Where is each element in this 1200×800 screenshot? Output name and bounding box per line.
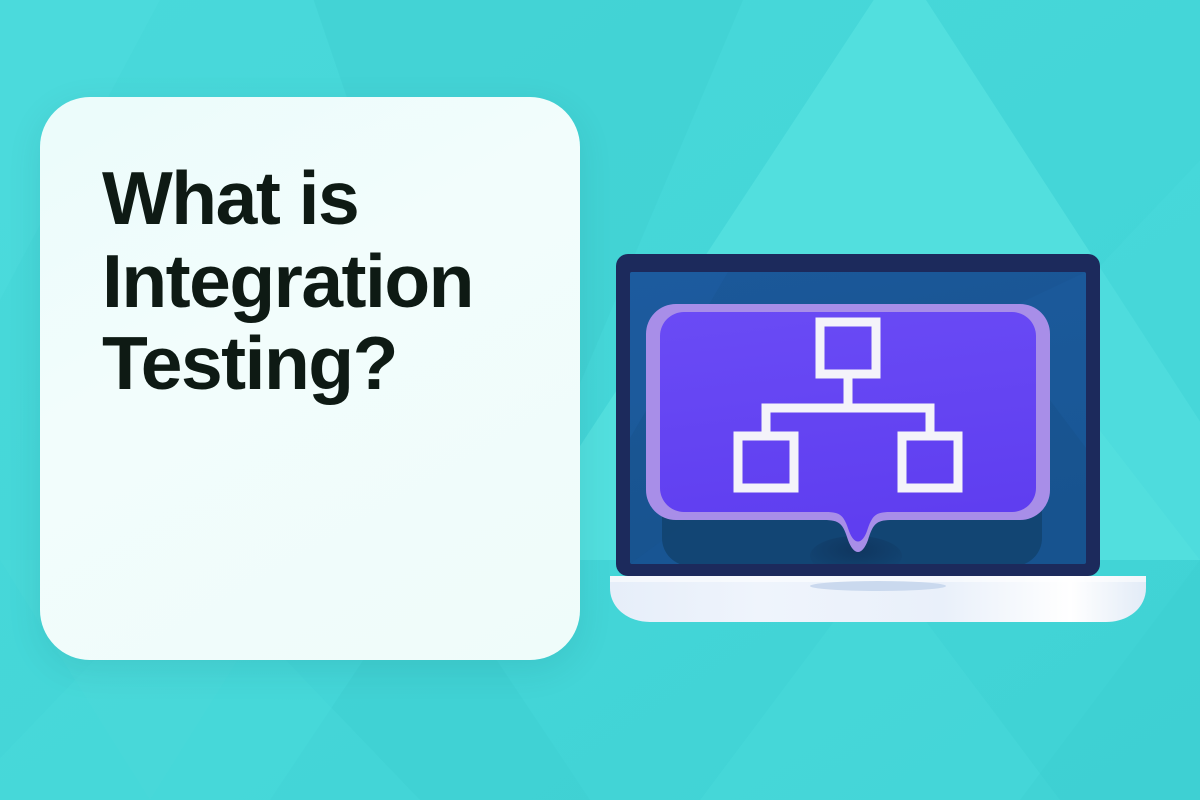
laptop-illustration	[608, 248, 1148, 628]
title-card: What is Integration Testing?	[40, 97, 580, 660]
speech-bubble-body	[660, 312, 1036, 542]
poster-canvas: What is Integration Testing?	[0, 0, 1200, 800]
laptop-trackpad-notch	[810, 581, 946, 591]
page-title: What is Integration Testing?	[102, 157, 528, 405]
